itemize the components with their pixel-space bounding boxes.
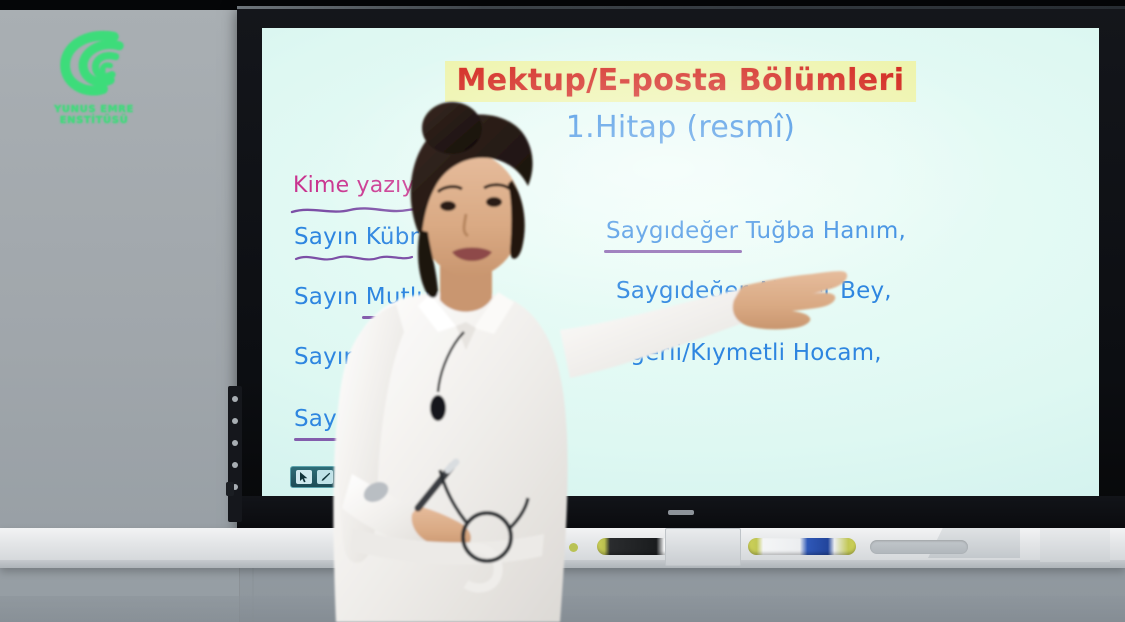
slide-title-highlight: Mektup/E-posta Bölümleri <box>445 61 917 102</box>
logo-text: YUNUS EMRE ENSTİTÜSÜ <box>34 104 154 126</box>
pen-tray-right-block <box>1040 528 1110 562</box>
slide-title: Mektup/E-posta Bölümleri <box>457 63 905 98</box>
board-side-connector <box>226 482 234 496</box>
tray-slot[interactable] <box>870 540 968 554</box>
bezel-top-highlight <box>237 6 1125 9</box>
right-line-3: Değerli/Kıymetli Hocam, <box>598 340 882 366</box>
board-bottom-bezel <box>237 496 1125 530</box>
question-squiggle-underline <box>290 204 465 216</box>
left-line-4-underline <box>294 438 390 441</box>
slide-question: Kime yazıyoruz? <box>293 173 475 198</box>
institution-logo: YUNUS EMRE ENSTİTÜSÜ <box>34 26 154 130</box>
board-button-4[interactable] <box>232 462 238 468</box>
logo-text-line1: YUNUS EMRE <box>34 104 154 115</box>
pen-tray-lip <box>0 560 1125 568</box>
board-side-button-panel[interactable] <box>228 386 242 522</box>
board-status-led <box>668 510 694 515</box>
blue-stylus[interactable] <box>748 538 856 555</box>
eraser-pad[interactable] <box>665 528 741 566</box>
board-button-2[interactable] <box>232 418 238 424</box>
pointer-icon[interactable] <box>296 470 312 484</box>
slide-screen[interactable]: Mektup/E-posta Bölümleri 1.Hitap (resmî)… <box>262 28 1099 496</box>
interactive-whiteboard[interactable]: Mektup/E-posta Bölümleri 1.Hitap (resmî)… <box>237 6 1125 530</box>
floor-strip <box>0 596 1125 622</box>
logo-text-line2: ENSTİTÜSÜ <box>34 115 154 126</box>
left-line-1-squiggle <box>294 252 414 264</box>
right-line-2: Saygıdeğer Ahmet Bey, <box>616 278 892 304</box>
slide-subtitle: 1.Hitap (resmî) <box>566 110 795 145</box>
left-line-4: Sayın, <box>294 406 366 432</box>
pen-icon[interactable] <box>317 470 333 484</box>
slide-toolbar[interactable] <box>290 466 354 488</box>
left-line-2: Sayın Mutlu, <box>294 284 439 310</box>
right-line-1-underline <box>604 250 742 253</box>
left-line-3: Sayın Kübra, <box>294 344 441 370</box>
left-line-1: Sayın Kübra Mutlu, <box>294 224 514 250</box>
right-line-1: Saygıdeğer Tuğba Hanım, <box>606 218 906 244</box>
left-line-2-underline <box>362 316 440 319</box>
pen-tray-indicator <box>569 543 578 552</box>
board-button-3[interactable] <box>232 440 238 446</box>
board-button-1[interactable] <box>232 396 238 402</box>
green-spiral-icon <box>48 26 140 98</box>
screenshot-frame: YUNUS EMRE ENSTİTÜSÜ Mektup/E-posta Bölü… <box>0 0 1125 622</box>
